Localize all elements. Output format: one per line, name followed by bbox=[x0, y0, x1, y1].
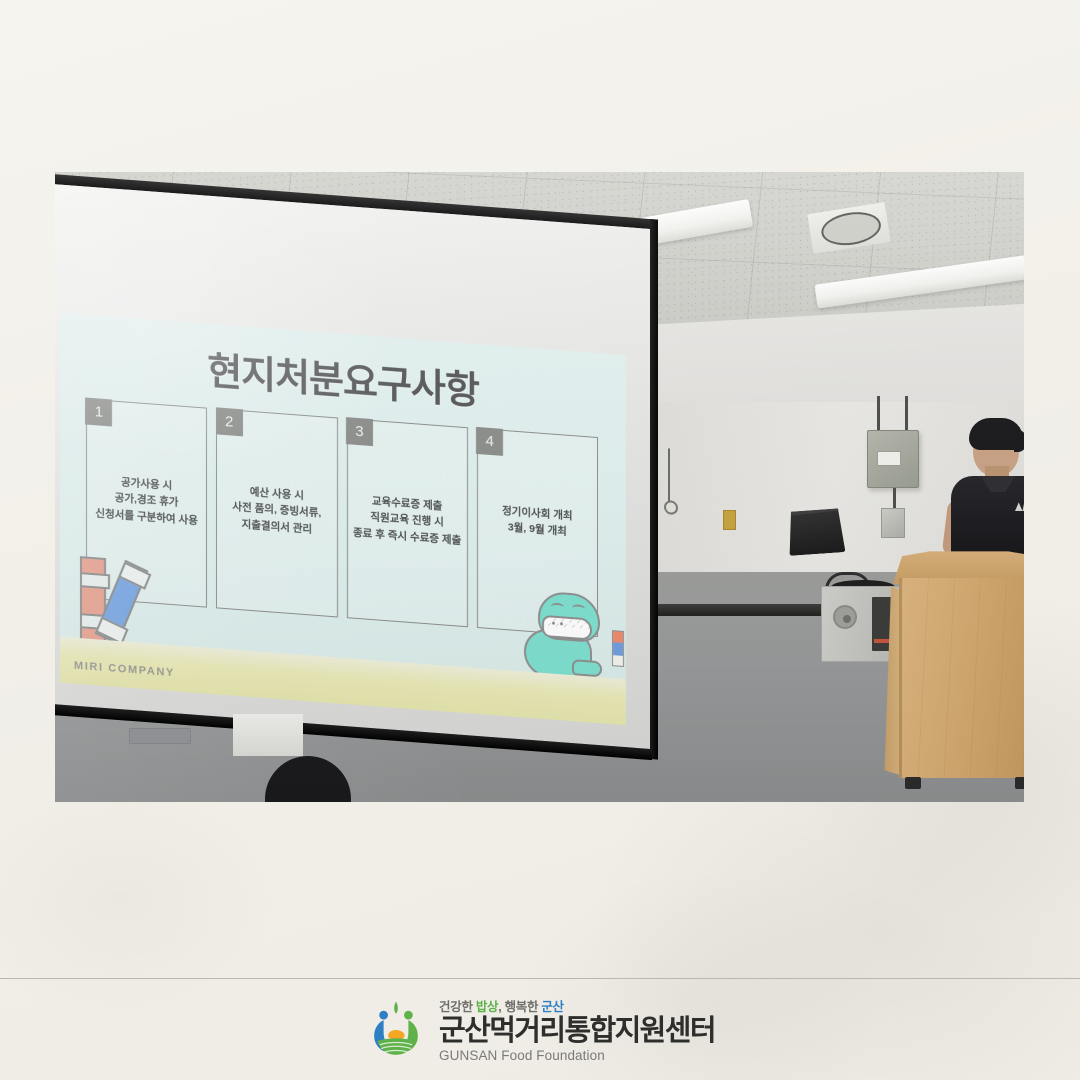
tagline-blue: 군산 bbox=[541, 1000, 563, 1014]
screen-side-rail bbox=[650, 219, 658, 760]
slide-card: 3 교육수료증 제출 직원교육 진행 시 종료 후 즉시 수료증 제출 bbox=[347, 418, 468, 627]
screen-pull-chain bbox=[668, 448, 670, 504]
presentation-photo: 현지처분요구사항 1 공가사용 시 공가,경조 휴가 신청서를 구분하여 사용 … bbox=[55, 172, 1024, 802]
marker-illustration bbox=[612, 630, 624, 667]
card-number-badge: 4 bbox=[476, 427, 503, 456]
electrical-box-small bbox=[881, 508, 905, 538]
dinosaur-eye-right bbox=[572, 604, 585, 613]
footer-organization-title: 군산먹거리통합지원센터 bbox=[439, 1016, 715, 1046]
podium bbox=[893, 550, 1024, 782]
gunsan-food-foundation-logo-icon bbox=[365, 999, 427, 1061]
wall-outlet bbox=[723, 510, 736, 530]
footer-branding: 건강한 밥상, 행복한 군산 군산먹거리통합지원센터 GUNSAN Food F… bbox=[0, 979, 1080, 1080]
card-number-badge: 2 bbox=[216, 408, 243, 437]
card-body-text: 예산 사용 시 사전 품의, 증빙서류, 지출결의서 관리 bbox=[219, 482, 334, 539]
podium-caster bbox=[1015, 777, 1024, 789]
presenter-hair bbox=[969, 418, 1023, 450]
projected-slide: 현지처분요구사항 1 공가사용 시 공가,경조 휴가 신청서를 구분하여 사용 … bbox=[60, 313, 626, 726]
white-box-under-screen bbox=[233, 714, 303, 756]
footer-text-block: 건강한 밥상, 행복한 군산 군산먹거리통합지원센터 GUNSAN Food F… bbox=[439, 996, 715, 1062]
card-number-badge: 1 bbox=[85, 398, 112, 427]
electrical-box bbox=[867, 430, 919, 488]
card-number-badge: 3 bbox=[346, 418, 373, 447]
page-root: 현지처분요구사항 1 공가사용 시 공가,경조 휴가 신청서를 구분하여 사용 … bbox=[0, 0, 1080, 1080]
slide-card: 2 예산 사용 시 사전 품의, 증빙서류, 지출결의서 관리 bbox=[216, 408, 337, 617]
tagline-part1: 건강한 bbox=[439, 1000, 476, 1014]
projection-screen: 현지처분요구사항 1 공가사용 시 공가,경조 휴가 신청서를 구분하여 사용 … bbox=[55, 174, 658, 802]
cabinet-fan-grille bbox=[833, 605, 857, 629]
footer-tagline: 건강한 밥상, 행복한 군산 bbox=[439, 996, 715, 1015]
dinosaur-teeth bbox=[548, 617, 590, 629]
books-illustration bbox=[64, 533, 184, 650]
dinosaur-head bbox=[538, 591, 600, 644]
tagline-part2: , 행복한 bbox=[498, 1000, 541, 1014]
dinosaur-eye-left bbox=[551, 603, 564, 612]
card-body-text: 공가사용 시 공가,경조 휴가 신청서를 구분하여 사용 bbox=[89, 472, 204, 529]
electrical-conduit bbox=[877, 396, 880, 432]
dinosaur-snout bbox=[542, 615, 592, 641]
tagline-green: 밥상 bbox=[476, 1000, 498, 1014]
screen-surface: 현지처분요구사항 1 공가사용 시 공가,경조 휴가 신청서를 구분하여 사용 … bbox=[55, 184, 650, 749]
card-body-text: 교육수료증 제출 직원교육 진행 시 종료 후 즉시 수료증 제출 bbox=[350, 491, 465, 548]
ceiling-speaker bbox=[787, 508, 846, 556]
card-body-text: 정기이사회 개최 3월, 9월 개최 bbox=[480, 501, 595, 542]
electrical-conduit bbox=[893, 488, 896, 510]
dinosaur-mascot-illustration bbox=[520, 581, 612, 684]
podium-front-panel bbox=[899, 578, 1024, 778]
footer-organization-subtitle: GUNSAN Food Foundation bbox=[439, 1048, 715, 1063]
podium-caster bbox=[905, 777, 921, 789]
electrical-conduit bbox=[905, 396, 908, 432]
